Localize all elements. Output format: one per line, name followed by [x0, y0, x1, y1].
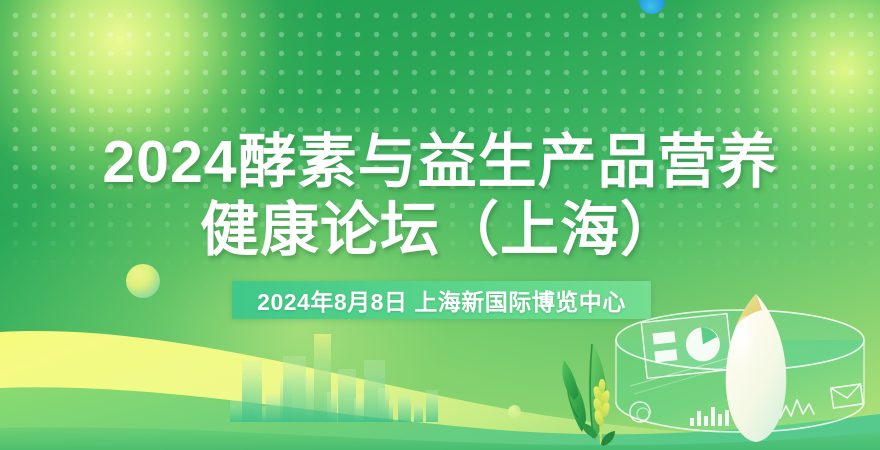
banner-title-line-1: 2024酵素与益生产品营养: [0, 133, 880, 192]
city-skyline: [228, 312, 478, 422]
banner-title-line-2: 健康论坛（上海）: [0, 201, 880, 260]
conference-banner: 2024酵素与益生产品营养 健康论坛（上海） 2024年8月8日 上海新国际博览…: [0, 0, 880, 450]
floating-sphere-small: [508, 405, 521, 418]
subtitle-text: 2024年8月8日 上海新国际博览中心: [257, 283, 626, 317]
capsule-grain-graphic: [716, 292, 796, 444]
blue-accent-circle: [639, 0, 665, 14]
subtitle-bar: 2024年8月8日 上海新国际博览中心: [232, 281, 651, 319]
floating-sphere-large: [126, 264, 160, 298]
